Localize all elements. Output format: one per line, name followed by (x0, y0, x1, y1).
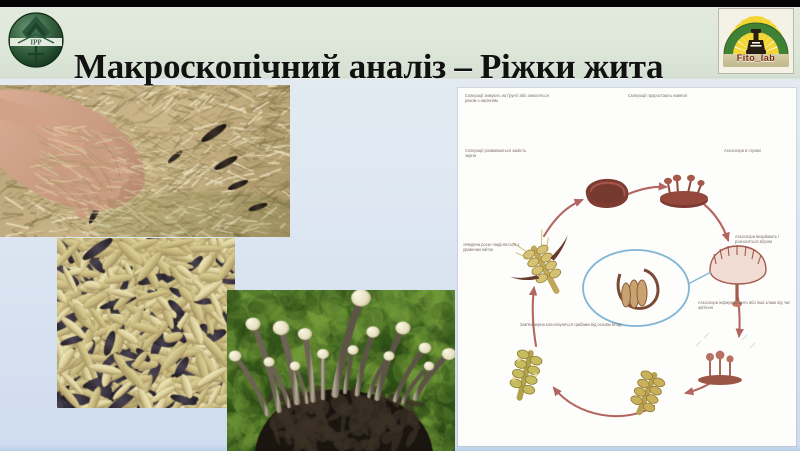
slide-root: IPP Макроскопічний аналіз – Ріжки жита (0, 0, 800, 451)
ergot-life-cycle-diagram: Склероції зимують на ґрунті або заносять… (458, 88, 796, 446)
top-black-bar (0, 0, 800, 7)
diagram-label-sclerotia-develop: Склероції розвиваються замість зерна (465, 148, 531, 159)
photo-rye-field-hand (0, 85, 290, 237)
page-title: Макроскопічний аналіз – Ріжки жита (74, 39, 704, 95)
diagram-label-honeydew-colonise: Зав'язі зерна колонізуються грибами від … (520, 322, 624, 327)
diagram-label-honeydew: «Медяна роса» виділяється з уражених кві… (463, 242, 535, 253)
diagram-label-ascospores-infect: Аскоспори інфікують жито або інші злаки … (698, 300, 794, 311)
photo-rye-grain-sclerotia (57, 238, 235, 408)
photo-germinating-sclerotium (227, 290, 455, 451)
institute-emblem-logo: IPP (6, 10, 66, 70)
svg-text:IPP: IPP (30, 39, 42, 47)
diagram-label-ascospores-wind: Аскоспори визрівають і розносяться вітро… (735, 234, 795, 245)
diagram-label-ascospores-in-stroma: Аскоспори в стромі (724, 148, 794, 153)
fito-lab-caption: Fito_lab (719, 53, 793, 63)
fito-lab-logo: Fito_lab (718, 8, 794, 74)
